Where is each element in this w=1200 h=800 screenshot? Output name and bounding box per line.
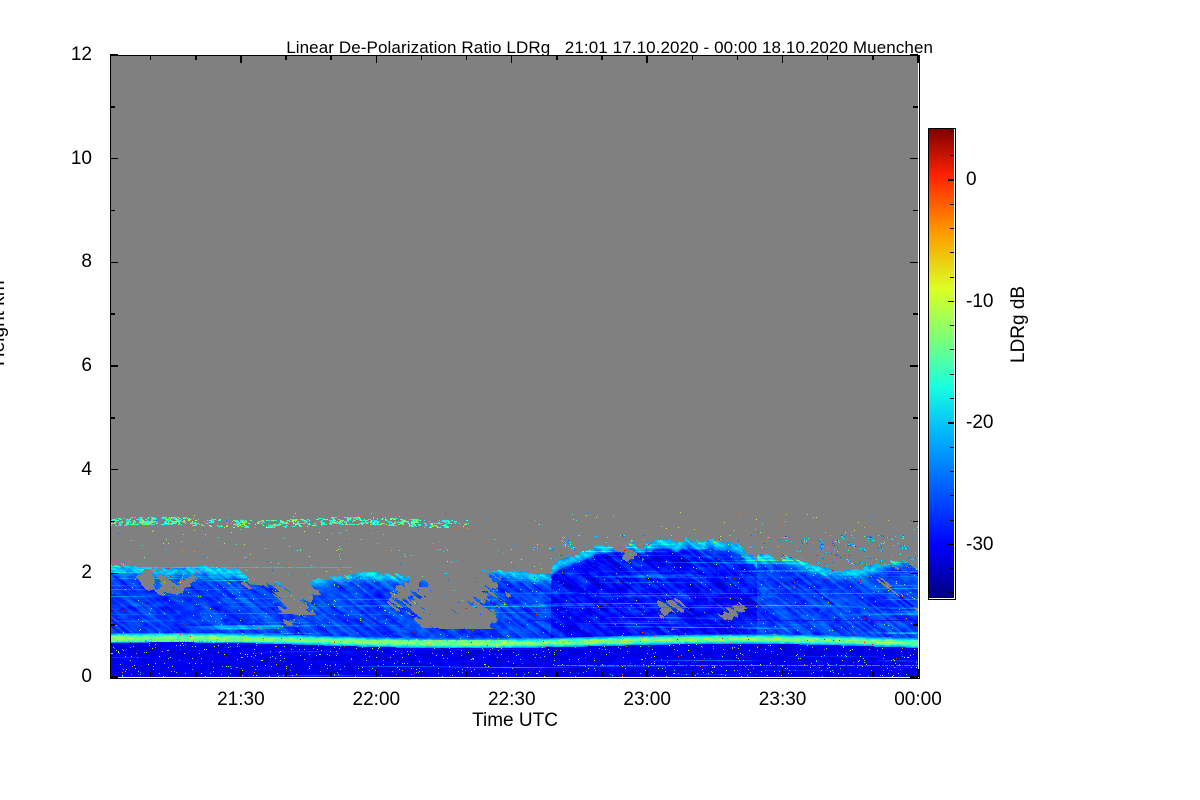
y-tick-right-8 [910, 262, 918, 264]
x-tick-top-1280 [195, 55, 197, 60]
x-tick-top-1410 [782, 55, 784, 63]
colorbar-tick-label: 0 [966, 169, 977, 191]
y-tick-11 [110, 106, 115, 108]
x-axis-tick-label: 22:00 [353, 689, 401, 711]
colorbar-tick--10 [948, 301, 954, 303]
y-tick-5 [110, 417, 115, 419]
heatmap-plot-area [110, 55, 918, 677]
colorbar-tick-label: -10 [966, 291, 993, 313]
colorbar-tick--18 [950, 398, 954, 399]
x-tick-1420 [827, 672, 829, 677]
colorbar-tick--14 [950, 349, 954, 350]
x-tick-1320 [376, 669, 378, 677]
x-tick-top-1380 [646, 55, 648, 63]
y-tick-right-11 [913, 106, 918, 108]
colorbar-tick-0 [948, 179, 954, 181]
ldr-heatmap-canvas [110, 55, 918, 677]
colorbar-tick--2 [950, 204, 954, 205]
y-tick-right-4 [910, 469, 918, 471]
x-tick-top-1440 [917, 55, 919, 63]
x-tick-top-1430 [872, 55, 874, 60]
colorbar [928, 128, 954, 598]
x-tick-1310 [330, 672, 332, 677]
x-tick-top-1330 [421, 55, 423, 60]
x-tick-1430 [872, 672, 874, 677]
x-axis-tick-label: 22:30 [488, 689, 536, 711]
x-tick-top-1340 [466, 55, 468, 60]
y-axis-tick-label: 10 [0, 148, 92, 170]
colorbar-tick--16 [950, 374, 954, 375]
y-axis-title: Height km [0, 280, 10, 366]
y-axis-tick-label: 12 [0, 44, 92, 66]
colorbar-tick--6 [950, 252, 954, 253]
colorbar-tick--26 [950, 495, 954, 496]
colorbar-tick--32 [950, 568, 954, 569]
x-tick-1390 [692, 672, 694, 677]
y-tick-right-6 [910, 365, 918, 367]
y-tick-right-9 [913, 210, 918, 212]
colorbar-title: LDRg dB [1008, 286, 1030, 363]
colorbar-tick--4 [950, 228, 954, 229]
x-tick-1410 [782, 669, 784, 677]
y-tick-6 [110, 365, 118, 367]
y-tick-right-1 [913, 624, 918, 626]
x-tick-top-1310 [330, 55, 332, 60]
y-tick-0 [110, 676, 118, 678]
y-tick-10 [110, 158, 118, 160]
colorbar-tick--28 [950, 520, 954, 521]
x-tick-1300 [285, 672, 287, 677]
x-tick-top-1420 [827, 55, 829, 60]
colorbar-tick--30 [948, 544, 954, 546]
y-tick-3 [110, 521, 115, 523]
x-tick-1340 [466, 672, 468, 677]
y-tick-2 [110, 573, 118, 575]
colorbar-tick--8 [950, 277, 954, 278]
y-tick-right-7 [913, 313, 918, 315]
x-axis-tick-label: 00:00 [894, 689, 942, 711]
x-axis-tick-label: 23:30 [759, 689, 807, 711]
x-tick-top-1370 [601, 55, 603, 60]
x-tick-1350 [511, 669, 513, 677]
x-tick-top-1350 [511, 55, 513, 63]
y-tick-9 [110, 210, 115, 212]
x-tick-1290 [240, 669, 242, 677]
colorbar-gradient [928, 128, 954, 598]
x-tick-top-1270 [150, 55, 152, 60]
colorbar-tick-label: -20 [966, 412, 993, 434]
y-axis-tick-label: 4 [0, 459, 92, 481]
y-tick-right-10 [910, 158, 918, 160]
colorbar-tick--12 [950, 325, 954, 326]
x-tick-top-1320 [376, 55, 378, 63]
x-tick-1370 [601, 672, 603, 677]
x-tick-1360 [556, 672, 558, 677]
x-tick-top-1360 [556, 55, 558, 60]
colorbar-tick--20 [948, 422, 954, 424]
colorbar-tick--22 [950, 447, 954, 448]
x-axis-title: Time UTC [0, 710, 1030, 732]
x-tick-top-1390 [692, 55, 694, 60]
colorbar-tick-2 [950, 155, 954, 156]
x-axis-tick-label: 21:30 [217, 689, 265, 711]
y-axis-tick-label: 6 [0, 355, 92, 377]
x-tick-top-1400 [737, 55, 739, 60]
y-tick-4 [110, 469, 118, 471]
y-tick-right-5 [913, 417, 918, 419]
y-tick-12 [110, 54, 118, 56]
x-tick-top-1300 [285, 55, 287, 60]
y-axis-tick-label: 2 [0, 562, 92, 584]
x-tick-1440 [917, 669, 919, 677]
x-tick-1270 [150, 672, 152, 677]
x-tick-1400 [737, 672, 739, 677]
colorbar-tick-4 [950, 131, 954, 132]
y-axis-tick-label: 0 [0, 666, 92, 688]
x-axis-tick-label: 23:00 [623, 689, 671, 711]
y-tick-1 [110, 624, 115, 626]
figure-root: Linear De-Polarization Ratio LDRg 21:01 … [0, 0, 1200, 800]
y-tick-right-2 [910, 573, 918, 575]
colorbar-tick--24 [950, 471, 954, 472]
x-tick-1280 [195, 672, 197, 677]
y-tick-8 [110, 262, 118, 264]
colorbar-tick--34 [950, 592, 954, 593]
x-tick-1380 [646, 669, 648, 677]
y-tick-7 [110, 313, 115, 315]
x-tick-1330 [421, 672, 423, 677]
y-axis-tick-label: 8 [0, 251, 92, 273]
colorbar-tick-label: -30 [966, 534, 993, 556]
y-tick-right-3 [913, 521, 918, 523]
x-tick-top-1290 [240, 55, 242, 63]
